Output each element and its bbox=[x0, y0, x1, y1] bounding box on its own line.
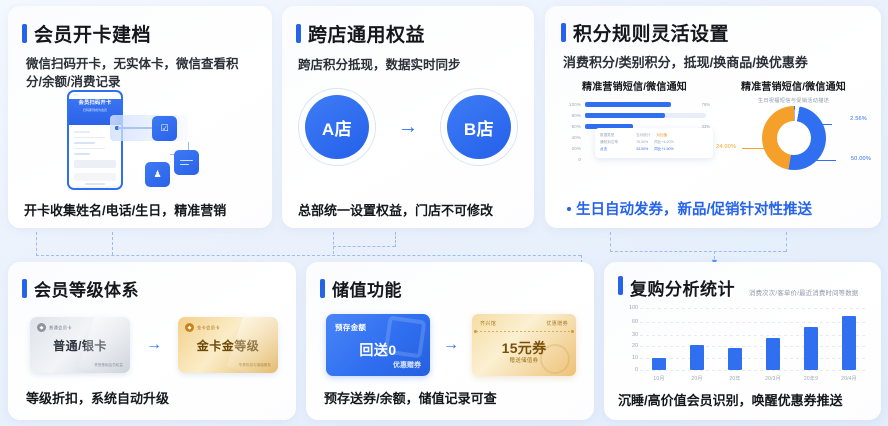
tier-brand-label: 金卡会员卡 bbox=[197, 325, 220, 331]
accent-bar-icon bbox=[320, 279, 325, 298]
brand-logo-icon: ◆ bbox=[37, 323, 46, 332]
connector-line-11 bbox=[786, 232, 787, 252]
bar-column bbox=[690, 345, 704, 370]
bullet-dot-icon bbox=[567, 207, 571, 211]
vchart-plot: 100 60 30 20 10 0 bbox=[640, 308, 868, 370]
card1-subtitle: 微信扫码开卡，无实体卡，微信查看积分/余额/消费记录 bbox=[26, 55, 250, 91]
phone-secondary-button[interactable] bbox=[74, 173, 116, 181]
tooltip-cell: 通知到达率 bbox=[600, 139, 630, 146]
bar-row-label: 40% bbox=[559, 135, 585, 140]
tier-note-gold: 专享折扣与增值服务 bbox=[239, 363, 271, 368]
donut-plot: 2.56% 50.00% 24.00% bbox=[714, 104, 873, 184]
card2-footer: 总部统一设置权益，门店不可修改 bbox=[298, 200, 493, 219]
card-stored-value-function: 储值功能 预存金额 回送0 优惠赠券 → 齐兴馆 优惠赠券 15元券 赠送储值券… bbox=[306, 262, 594, 420]
card5-title: 储值功能 bbox=[332, 276, 402, 301]
connector-line-2 bbox=[36, 255, 581, 256]
y-tick-label: 20 bbox=[616, 343, 638, 349]
arrow-right-icon: → bbox=[146, 337, 162, 353]
bar-row-label: 100% bbox=[559, 102, 585, 107]
brand-logo-icon: ◆ bbox=[185, 323, 194, 332]
card2-title: 跨店通用权益 bbox=[308, 20, 425, 47]
flow-dot-icon bbox=[115, 126, 119, 130]
y-tick-label: 60 bbox=[616, 319, 638, 325]
bar-column bbox=[652, 358, 666, 370]
card1-footer: 开卡收集姓名/电话/生日，精准营销 bbox=[24, 200, 226, 219]
connector-line-4 bbox=[333, 232, 334, 254]
bar-row-label: 20% bbox=[559, 146, 585, 151]
infographic-canvas: ▼ 会员开卡建档 微信扫码开卡，无实体卡，微信查看积分/余额/消费记录 9:41… bbox=[0, 0, 888, 426]
phone-form-line bbox=[74, 153, 90, 155]
accent-bar-icon bbox=[561, 23, 566, 42]
check-badge-icon: ☑ bbox=[152, 116, 177, 141]
card3-charts: 精准营销短信/微信通知 100% 76% 80% 60% bbox=[555, 78, 873, 186]
card1-header: 会员开卡建档 bbox=[22, 20, 272, 47]
phone-form-line bbox=[74, 148, 105, 150]
tier-note-silver: 享受基础会员权益 bbox=[94, 363, 123, 368]
card-membership-card-opening: 会员开卡建档 微信扫码开卡，无实体卡，微信查看积分/余额/消费记录 9:41 会… bbox=[8, 6, 272, 228]
bar-track bbox=[585, 102, 698, 107]
coupon-issuer: 齐兴馆 bbox=[480, 320, 496, 327]
connector-line-5 bbox=[333, 246, 395, 247]
prepaid-amount-card: 预存金额 回送0 优惠赠券 bbox=[326, 314, 430, 376]
chart-birthday-wish-donut: 精准营销短信/微信通知 生日祝福短信与促销活动描述 2.56% 50.00% 2… bbox=[714, 78, 873, 186]
card6-header: 复购分析统计 消费次次/客单价/最近消费时间等数据 bbox=[618, 275, 881, 300]
x-tick-label: 20年9 bbox=[798, 375, 824, 382]
accent-bar-icon bbox=[22, 279, 27, 298]
bar-column bbox=[728, 348, 742, 370]
card-points-rule-settings: 积分规则灵活设置 消费积分/类别积分，抵现/换商品/换优惠券 精准营销短信/微信… bbox=[545, 6, 881, 228]
vchart-bars bbox=[640, 308, 868, 370]
card1-title: 会员开卡建档 bbox=[34, 20, 151, 47]
x-tick-label: 20/3月 bbox=[760, 375, 786, 382]
connector-line-6 bbox=[395, 232, 396, 247]
arrow-right-icon: → bbox=[443, 337, 459, 353]
card3-title: 积分规则灵活设置 bbox=[573, 19, 729, 46]
chart-marketing-sms-bar: 精准营销短信/微信通知 100% 76% 80% 60% bbox=[555, 78, 714, 186]
donut-chart-subtitle: 生日祝福短信与促销活动描述 bbox=[714, 97, 873, 104]
bar-row: 100% 76% bbox=[559, 99, 710, 110]
tier-flow-diagram: ◆ 普通会员卡 普通/银卡 享受基础会员权益 → ◆ 金卡会员卡 金卡金等级 专… bbox=[30, 314, 278, 376]
coupon-divider bbox=[476, 331, 572, 332]
list-badge-icon bbox=[174, 150, 199, 175]
coupon-note: 赠送储值券 bbox=[472, 356, 576, 364]
tooltip-cell: 同比+1.50% bbox=[654, 146, 673, 153]
card5-header: 储值功能 bbox=[320, 276, 594, 301]
bar-track bbox=[585, 113, 706, 118]
tooltip-cell: 对比值 bbox=[656, 132, 667, 139]
tier-card-gold: ◆ 金卡会员卡 金卡金等级 专享折扣与增值服务 bbox=[178, 317, 278, 373]
donut-label-wechat: 24.00% bbox=[716, 144, 736, 150]
coupon-type: 优惠赠券 bbox=[546, 320, 568, 327]
gridline bbox=[640, 370, 868, 371]
x-tick-label: 20/4月 bbox=[836, 375, 862, 382]
card3-header: 积分规则灵活设置 bbox=[561, 19, 881, 46]
card6-title: 复购分析统计 bbox=[630, 275, 735, 300]
store-a-ring: A店 bbox=[298, 88, 376, 166]
phone-title: 会员扫码开卡 bbox=[69, 99, 121, 106]
connector-line-3 bbox=[112, 232, 113, 255]
bar-column bbox=[804, 327, 818, 370]
phone-home-indicator bbox=[85, 183, 105, 185]
phone-status-text: 9:41 bbox=[73, 94, 78, 97]
phone-tertiary-button[interactable] bbox=[74, 186, 116, 190]
tooltip-row: 通知到达率 76.00% 同比+4.20% bbox=[600, 139, 708, 146]
tier-card-silver: ◆ 普通会员卡 普通/银卡 享受基础会员权益 bbox=[30, 317, 130, 373]
phone-form-line bbox=[74, 142, 95, 144]
phone-form-line bbox=[74, 131, 90, 133]
chart-tooltip: 数据类型 当月统计 对比值 通知到达率 76.00% 同比+4.20% 点击 3… bbox=[595, 128, 713, 158]
phone-subtitle: 扫码即刻成为会员 bbox=[69, 108, 121, 112]
tooltip-cell: 76.00% bbox=[636, 139, 648, 146]
card-membership-tier-system: 会员等级体系 ◆ 普通会员卡 普通/银卡 享受基础会员权益 → ◆ 金卡会员卡 … bbox=[8, 262, 296, 420]
y-tick-label: 10 bbox=[616, 355, 638, 361]
tooltip-cell: 数据类型 bbox=[600, 132, 630, 139]
donut-label-other: 2.56% bbox=[850, 116, 867, 122]
card3-footer-text: 生日自动发券，新品/促销针对性推送 bbox=[576, 202, 812, 218]
accent-bar-icon bbox=[618, 276, 623, 295]
connector-line-9 bbox=[610, 232, 611, 252]
coupon-amount: 15元券 bbox=[472, 338, 576, 358]
donut-leader-line bbox=[742, 148, 764, 149]
chart-repurchase-bar: 100 60 30 20 10 0 10月 20月 20年 bbox=[616, 308, 870, 384]
bar-chart-title: 精准营销短信/微信通知 bbox=[555, 78, 714, 93]
card-repurchase-analysis: 复购分析统计 消费次次/客单价/最近消费时间等数据 100 60 30 20 1… bbox=[604, 262, 881, 420]
bar-column bbox=[766, 338, 780, 370]
tooltip-cell: 当月统计 bbox=[636, 132, 650, 139]
donut-label-sms: 50.00% bbox=[851, 156, 871, 162]
connector-line-1 bbox=[36, 232, 37, 256]
user-badge-icon: ♟ bbox=[145, 162, 170, 187]
accent-bar-icon bbox=[22, 24, 27, 43]
store-flow-diagram: A店 → B店 bbox=[298, 84, 518, 170]
x-tick-label: 20年 bbox=[722, 375, 748, 382]
card2-subtitle: 跨店积分抵现，数据实时同步 bbox=[298, 56, 534, 74]
card6-note: 消费次次/客单价/最近消费时间等数据 bbox=[749, 288, 858, 297]
card3-subtitle: 消费积分/类别积分，抵现/换商品/换优惠券 bbox=[563, 54, 881, 73]
x-tick-label: 20月 bbox=[684, 375, 710, 382]
card4-title: 会员等级体系 bbox=[34, 276, 139, 301]
donut-leader-line bbox=[810, 160, 836, 161]
vchart-x-labels: 10月 20月 20年 20/3月 20年9 20/4月 bbox=[640, 372, 868, 384]
tooltip-cell: 同比+4.20% bbox=[654, 139, 673, 146]
store-b-label: B店 bbox=[447, 95, 511, 159]
y-tick-label: 30 bbox=[616, 332, 638, 338]
tooltip-row: 数据类型 当月统计 对比值 bbox=[600, 132, 708, 139]
connector-line-10 bbox=[610, 251, 786, 252]
bar-row-label: 80% bbox=[559, 113, 585, 118]
bar-column bbox=[842, 316, 856, 370]
phone-submit-button[interactable] bbox=[74, 160, 116, 168]
tooltip-cell: 33.00% bbox=[636, 146, 648, 153]
tooltip-row: 点击 33.00% 同比+1.50% bbox=[600, 146, 708, 153]
phone-illustration: 9:41 会员扫码开卡 扫码即刻成为会员 ☑ bbox=[22, 90, 258, 188]
prepaid-bonus-label: 优惠赠券 bbox=[393, 360, 421, 370]
donut-leader-line bbox=[810, 124, 832, 125]
bar-row: 80% bbox=[559, 110, 710, 121]
card-cross-store-benefits: 跨店通用权益 跨店积分抵现，数据实时同步 A店 → B店 总部统一设置权益，门店… bbox=[282, 6, 534, 228]
x-tick-label: 10月 bbox=[646, 375, 672, 382]
donut-chart-title: 精准营销短信/微信通知 bbox=[714, 78, 873, 93]
tooltip-cell: 点击 bbox=[600, 146, 630, 153]
y-tick-label: 0 bbox=[616, 367, 638, 373]
arrow-right-icon: → bbox=[398, 117, 418, 137]
store-b-ring: B店 bbox=[440, 88, 518, 166]
bar-value-label: 76% bbox=[702, 102, 710, 107]
card5-footer: 预存送券/余额，储值记录可查 bbox=[324, 388, 497, 407]
bar-row-label: 60% bbox=[559, 124, 585, 129]
prepaid-label: 预存金额 bbox=[335, 322, 366, 333]
bar-axis-zero: 0 bbox=[559, 157, 585, 162]
card6-footer: 沉睡/高价值会员识别，唤醒优惠券推送 bbox=[618, 390, 843, 409]
tier-brand-label: 普通会员卡 bbox=[49, 325, 72, 331]
accent-bar-icon bbox=[296, 24, 301, 43]
prepaid-amount: 回送0 bbox=[326, 340, 430, 360]
stored-value-flow: 预存金额 回送0 优惠赠券 → 齐兴馆 优惠赠券 15元券 赠送储值券 bbox=[326, 312, 576, 378]
card3-footer: 生日自动发券，新品/促销针对性推送 bbox=[567, 198, 812, 219]
phone-form-line bbox=[74, 137, 105, 139]
card4-footer: 等级折扣，系统自动升级 bbox=[26, 388, 169, 407]
card4-header: 会员等级体系 bbox=[22, 276, 296, 301]
card2-header: 跨店通用权益 bbox=[296, 20, 534, 47]
store-a-label: A店 bbox=[305, 95, 369, 159]
y-tick-label: 100 bbox=[616, 305, 638, 311]
coupon-card: 齐兴馆 优惠赠券 15元券 赠送储值券 bbox=[472, 314, 576, 376]
